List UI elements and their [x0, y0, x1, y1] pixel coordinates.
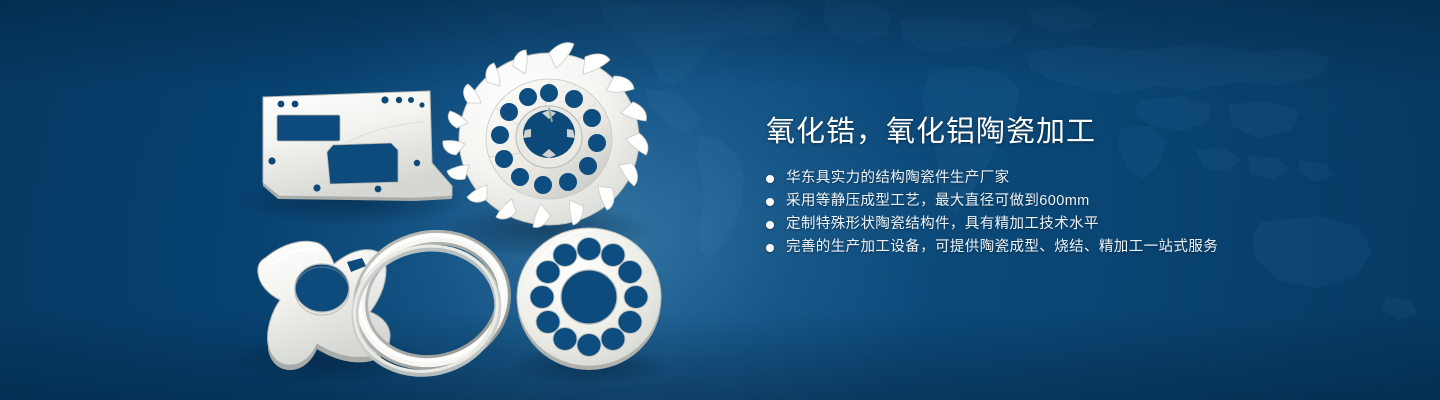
feature-text: 采用等静压成型工艺，最大直径可做到600mm	[786, 190, 1090, 213]
list-item: 定制特殊形状陶瓷结构件，具有精加工技术水平	[766, 213, 1366, 236]
bullet-dot-icon	[766, 244, 774, 252]
promo-banner: 氧化锆，氧化铝陶瓷加工 华东具实力的结构陶瓷件生产厂家 采用等静压成型工艺，最大…	[0, 0, 1440, 400]
feature-text: 华东具实力的结构陶瓷件生产厂家	[786, 167, 1010, 190]
ceramic-impeller-part	[443, 43, 648, 228]
bullet-dot-icon	[766, 221, 774, 229]
list-item: 华东具实力的结构陶瓷件生产厂家	[766, 167, 1366, 190]
list-item: 采用等静压成型工艺，最大直径可做到600mm	[766, 190, 1366, 213]
ceramic-perforated-disc-part	[517, 228, 661, 370]
bullet-dot-icon	[766, 175, 774, 183]
list-item: 完善的生产加工设备，可提供陶瓷成型、烧结、精加工一站式服务	[766, 236, 1366, 259]
feature-list: 华东具实力的结构陶瓷件生产厂家 采用等静压成型工艺，最大直径可做到600mm 定…	[766, 167, 1366, 259]
banner-text-block: 氧化锆，氧化铝陶瓷加工 华东具实力的结构陶瓷件生产厂家 采用等静压成型工艺，最大…	[766, 112, 1366, 259]
banner-headline: 氧化锆，氧化铝陶瓷加工	[766, 112, 1366, 152]
bullet-dot-icon	[766, 198, 774, 206]
ceramic-products-image	[0, 0, 720, 400]
ceramic-plate-part	[263, 91, 452, 201]
feature-text: 定制特殊形状陶瓷结构件，具有精加工技术水平	[786, 213, 1099, 236]
feature-text: 完善的生产加工设备，可提供陶瓷成型、烧结、精加工一站式服务	[786, 236, 1218, 259]
